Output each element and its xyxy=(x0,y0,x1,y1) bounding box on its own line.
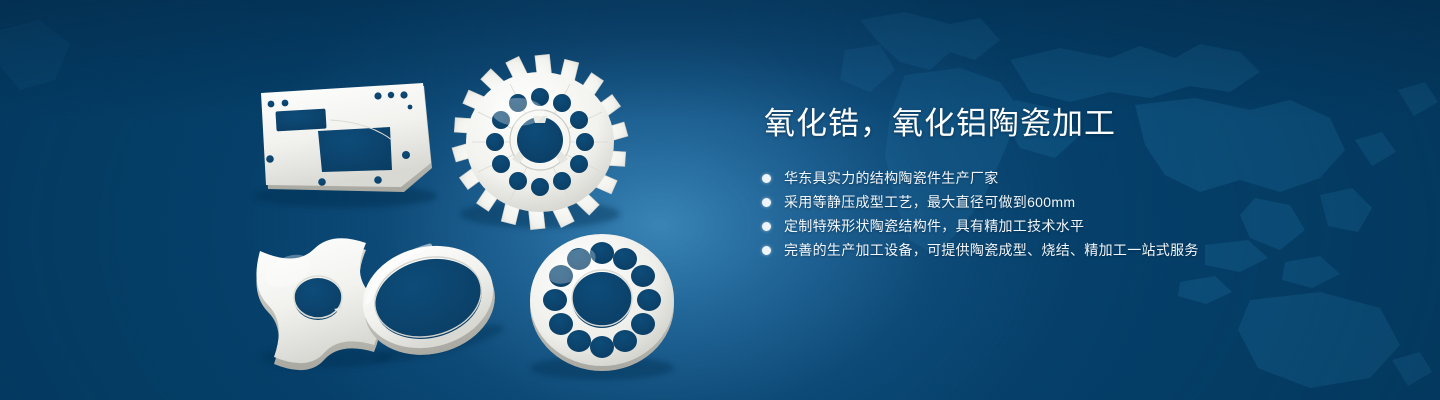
hero-banner: 氧化锆，氧化铝陶瓷加工 华东具实力的结构陶瓷件生产厂家 采用等静压成型工艺，最大… xyxy=(0,0,1440,400)
product-ceramic-impeller xyxy=(450,52,629,232)
page-title: 氧化锆，氧化铝陶瓷加工 xyxy=(764,104,1362,144)
list-item-label: 华东具实力的结构陶瓷件生产厂家 xyxy=(784,166,999,190)
list-item-label: 定制特殊形状陶瓷结构件，具有精加工技术水平 xyxy=(784,214,1084,238)
list-item-label: 采用等静压成型工艺，最大直径可做到600mm xyxy=(784,190,1075,214)
list-item: 华东具实力的结构陶瓷件生产厂家 xyxy=(762,166,1362,190)
bullet-dot-icon xyxy=(762,174,771,183)
list-item: 采用等静压成型工艺，最大直径可做到600mm xyxy=(762,190,1362,214)
product-ceramic-plate xyxy=(253,83,437,208)
product-ceramic-perforated-disc xyxy=(530,234,674,380)
banner-copy: 氧化锆，氧化铝陶瓷加工 华东具实力的结构陶瓷件生产厂家 采用等静压成型工艺，最大… xyxy=(762,104,1362,262)
list-item-label: 完善的生产加工设备，可提供陶瓷成型、烧结、精加工一站式服务 xyxy=(784,238,1199,262)
feature-list: 华东具实力的结构陶瓷件生产厂家 采用等静压成型工艺，最大直径可做到600mm 定… xyxy=(762,166,1362,262)
list-item: 完善的生产加工设备，可提供陶瓷成型、烧结、精加工一站式服务 xyxy=(762,238,1362,262)
list-item: 定制特殊形状陶瓷结构件，具有精加工技术水平 xyxy=(762,214,1362,238)
bullet-dot-icon xyxy=(762,246,771,255)
bullet-dot-icon xyxy=(762,198,771,207)
product-photo-group xyxy=(0,0,760,400)
bullet-dot-icon xyxy=(762,222,771,231)
